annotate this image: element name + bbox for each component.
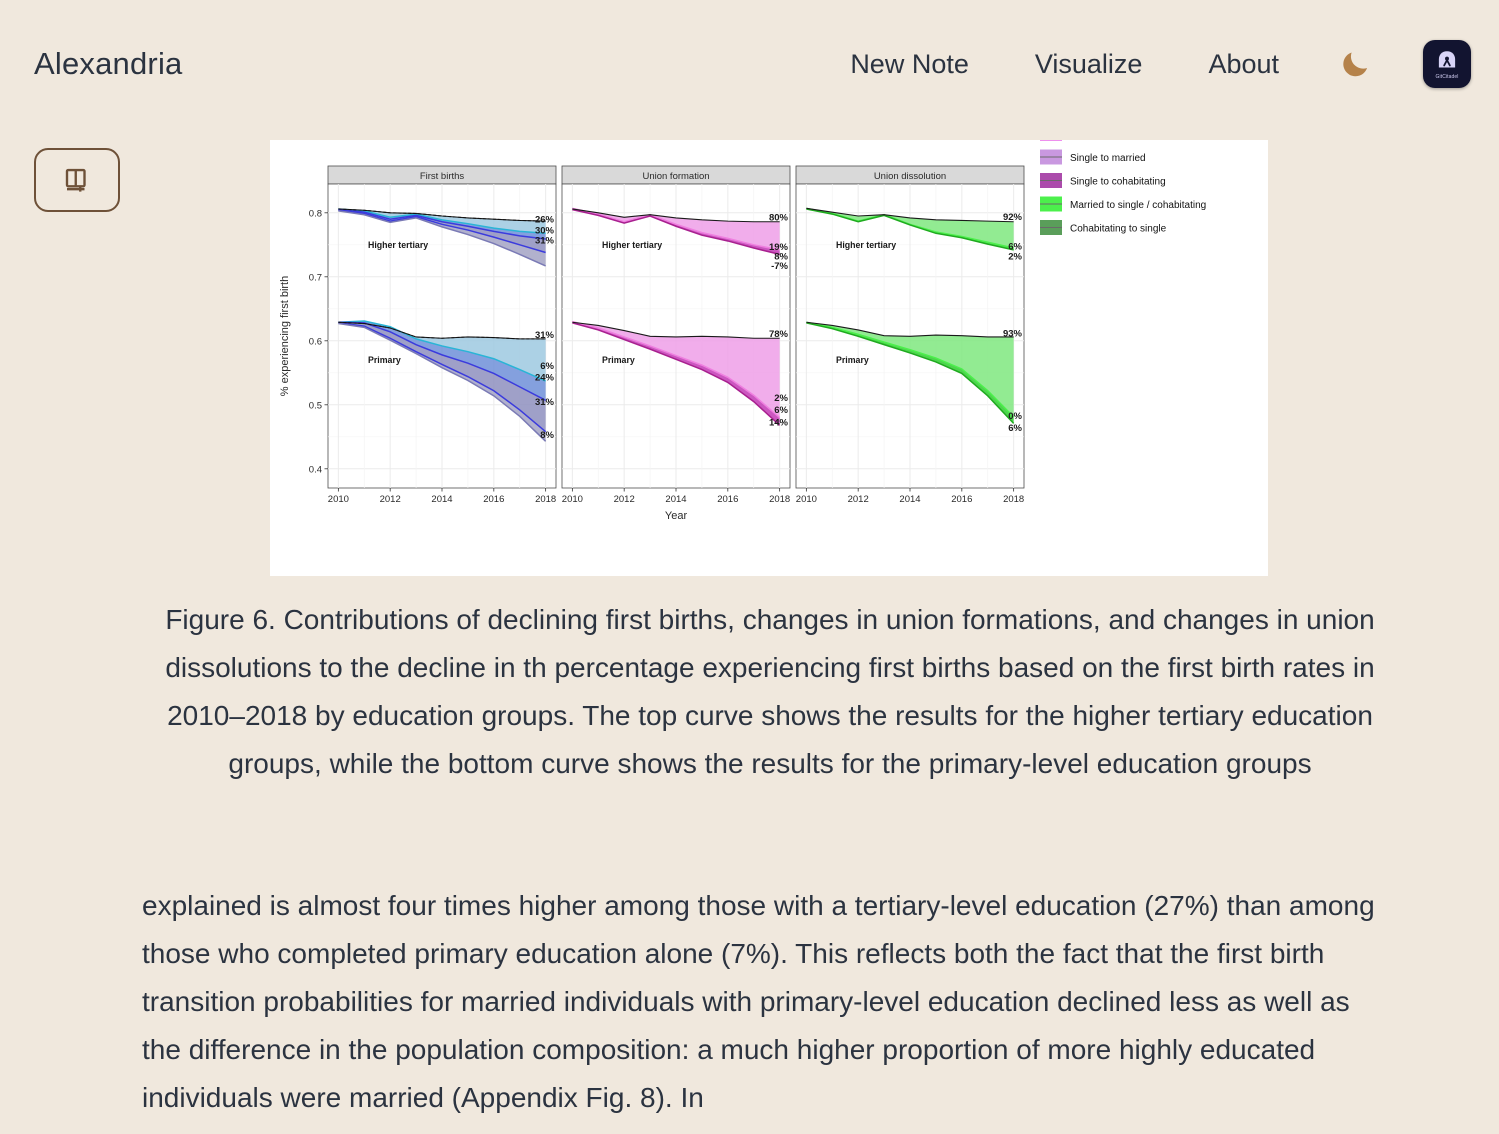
ytick-label-2: 0.6 [309,336,322,347]
group-label-primary: Primary [836,355,869,365]
annotation-union_formation-4: 78% [769,329,789,340]
xtick-label: 2016 [951,494,972,505]
chart-panel-first_births: First birthsHigher tertiaryPrimary26%30%… [328,166,556,505]
xtick-label: 2014 [431,494,452,505]
annotation-first_births-3: 31% [535,330,555,341]
figure-caption: Figure 6. Contributions of declining fir… [140,596,1400,788]
library-toggle-button[interactable] [34,148,120,212]
xtick-label: 2010 [562,494,583,505]
annotation-union_dissolution-3: 93% [1003,328,1023,339]
xtick-label: 2014 [665,494,686,505]
primary-nav: New Note Visualize About [850,49,1279,80]
xtick-label: 2010 [796,494,817,505]
ytick-label-3: 0.7 [309,272,322,283]
x-axis-title: Year [665,510,688,522]
app-brand-title[interactable]: Alexandria [34,46,182,82]
xtick-label: 2010 [328,494,349,505]
nav-new-note[interactable]: New Note [850,49,969,80]
panel-strip-label-2: Union dissolution [874,171,946,182]
annotation-union_dissolution-2: 2% [1008,252,1022,263]
xtick-label: 2016 [483,494,504,505]
figure-image[interactable]: First birthsHigher tertiaryPrimary26%30%… [270,140,1268,576]
legend-label-3: Married to single / cohabitating [1070,200,1206,211]
annotation-union_formation-0: 80% [769,212,789,223]
group-label-tertiary: Higher tertiary [368,240,428,250]
xtick-label: 2014 [899,494,920,505]
nav-about[interactable]: About [1208,49,1279,80]
gitcitadel-logo-icon [1434,48,1460,74]
gitcitadel-logo-button[interactable]: GitCitadel [1423,40,1471,88]
annotation-union_dissolution-0: 92% [1003,212,1023,223]
panel-strip-label-0: First births [420,171,465,182]
group-label-primary: Primary [368,355,401,365]
theme-toggle-button[interactable] [1333,42,1377,86]
legend-swatch-0 [1040,140,1062,141]
group-label-tertiary: Higher tertiary [602,240,662,250]
xtick-label: 2012 [614,494,635,505]
annotation-first_births-2: 31% [535,236,555,247]
ytick-label-1: 0.5 [309,400,322,411]
ytick-label-0: 0.4 [309,464,322,475]
xtick-label: 2018 [1003,494,1024,505]
nav-visualize[interactable]: Visualize [1035,49,1143,80]
annotation-union_formation-3: -7% [771,261,788,272]
annotation-first_births-4: 6% [540,361,554,372]
moon-icon [1338,47,1372,81]
xtick-label: 2018 [535,494,556,505]
y-axis-title: % experiencing first birth [279,276,291,396]
annotation-first_births-0: 26% [535,214,555,225]
book-icon [62,165,92,195]
annotation-first_births-6: 31% [535,397,555,408]
xtick-label: 2012 [848,494,869,505]
legend-label-2: Single to cohabitating [1070,177,1166,188]
panel-strip-label-1: Union formation [642,171,709,182]
annotation-first_births-5: 24% [535,372,555,383]
figure-chart-svg: First birthsHigher tertiaryPrimary26%30%… [270,140,1268,576]
group-label-primary: Primary [602,355,635,365]
annotation-union_formation-5: 2% [774,393,788,404]
annotation-union_dissolution-5: 6% [1008,423,1022,434]
group-label-tertiary: Higher tertiary [836,240,896,250]
legend-label-0: Cohabitating to married [1070,140,1174,141]
ytick-label-4: 0.8 [309,208,322,219]
logo-wordmark: GitCitadel [1436,75,1459,80]
xtick-label: 2018 [769,494,790,505]
annotation-union_dissolution-4: 0% [1008,411,1022,422]
top-navigation-bar: Alexandria New Note Visualize About GitC… [0,0,1499,128]
legend-label-1: Single to married [1070,153,1146,164]
xtick-label: 2016 [717,494,738,505]
article-paragraph: explained is almost four times higher am… [142,882,1395,1122]
annotation-union_formation-6: 6% [774,405,788,416]
legend-label-4: Cohabitating to single [1070,224,1167,235]
annotation-first_births-7: 8% [540,430,554,441]
chart-panel-union_formation: Union formationHigher tertiaryPrimary80%… [562,166,790,505]
xtick-label: 2012 [380,494,401,505]
annotation-union_formation-7: 14% [769,417,789,428]
chart-panel-union_dissolution: Union dissolutionHigher tertiaryPrimary9… [796,166,1024,505]
